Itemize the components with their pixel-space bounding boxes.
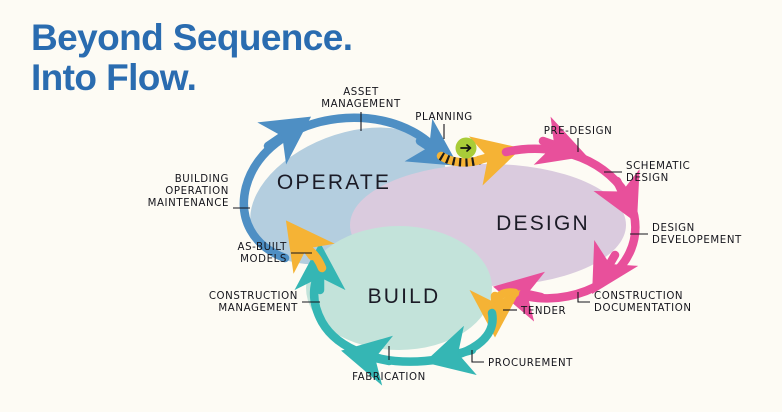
callout-procurement: PROCUREMENT bbox=[488, 358, 573, 369]
callout-tender: TENDER bbox=[520, 306, 566, 317]
callout-design-developement: DESIGN DEVELOPEMENT bbox=[652, 223, 742, 246]
callout-fabrication: FABRICATION bbox=[352, 372, 426, 383]
callout-asset-management-line1: ASSET bbox=[343, 87, 379, 98]
callout-as-built-models: AS-BUILT MODELS bbox=[238, 242, 288, 265]
callout-schematic-design-line1: SCHEMATIC bbox=[626, 161, 690, 172]
callout-construction-management-line2: MANAGEMENT bbox=[218, 303, 298, 314]
callout-asset-management: ASSET MANAGEMENT bbox=[321, 87, 401, 110]
callout-construction-documentation: CONSTRUCTION DOCUMENTATION bbox=[594, 291, 692, 314]
callout-asset-management-line2: MANAGEMENT bbox=[321, 99, 401, 110]
callout-as-built-models-line1: AS-BUILT bbox=[238, 242, 288, 253]
build-arrow-fabrication bbox=[366, 356, 389, 361]
callout-building-operation-maintenance: BUILDING OPERATION MAINTENANCE bbox=[148, 174, 229, 209]
design-arrow-cd bbox=[518, 292, 541, 297]
design-arrow-schematic bbox=[617, 181, 626, 200]
venn-label-operate: OPERATE bbox=[277, 171, 391, 194]
callout-design-developement-line2: DEVELOPEMENT bbox=[652, 235, 742, 246]
callout-construction-management: CONSTRUCTION MANAGEMENT bbox=[209, 291, 298, 314]
callout-schematic-design-line2: DESIGN bbox=[626, 173, 669, 184]
callout-as-built-models-line2: MODELS bbox=[240, 254, 287, 265]
poster-canvas: Beyond Sequence. Into Flow. bbox=[0, 0, 782, 412]
callout-bom-line2: OPERATION bbox=[165, 186, 229, 197]
callout-bom-line3: MAINTENANCE bbox=[148, 198, 229, 209]
build-arrow-procurement bbox=[449, 350, 472, 356]
callout-construction-documentation-line2: DOCUMENTATION bbox=[594, 303, 692, 314]
callout-planning: PLANNING bbox=[415, 112, 473, 123]
callout-pre-design: PRE-DESIGN bbox=[544, 126, 613, 137]
planning-arrow bbox=[479, 155, 497, 160]
venn-label-design: DESIGN bbox=[496, 212, 590, 235]
planning-marker[interactable] bbox=[456, 138, 477, 159]
callout-bom-line1: BUILDING bbox=[175, 174, 229, 185]
callout-construction-management-line1: CONSTRUCTION bbox=[209, 291, 298, 302]
lifecycle-venn-diagram: OPERATE DESIGN BUILD ASSET MANAGEMENT PL… bbox=[0, 0, 782, 412]
callout-schematic-design: SCHEMATIC DESIGN bbox=[626, 161, 690, 184]
venn-label-build: BUILD bbox=[368, 285, 441, 308]
tender-connector bbox=[495, 293, 515, 312]
callout-construction-documentation-line1: CONSTRUCTION bbox=[594, 291, 683, 302]
callout-design-developement-line1: DESIGN bbox=[652, 223, 695, 234]
